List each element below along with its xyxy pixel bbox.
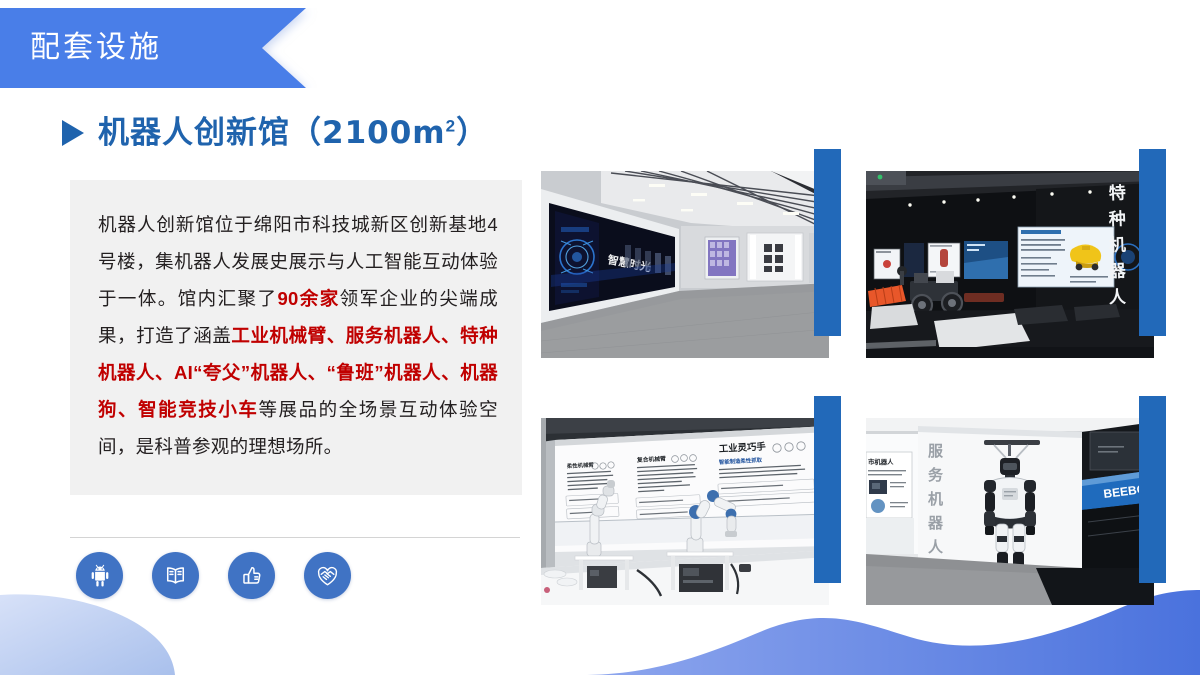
android-robot-glyph [87,563,113,589]
section-title-area-exponent: 2 [446,117,456,136]
svg-text:器: 器 [927,515,944,532]
svg-text:特: 特 [1108,182,1126,203]
desc-highlight-company-count: 90余家 [277,288,339,309]
photo-humanoid-robot-image: 市机器人 服 务 机 器 人 [866,418,1154,605]
open-book-glyph [162,562,189,589]
section-title-name: 机器人创新馆 [98,115,290,150]
svg-text:器: 器 [1107,261,1127,281]
photo-frame: 柔性机械臂 [541,418,829,605]
svg-text:务: 务 [928,466,944,484]
feature-icon-row [76,552,351,599]
handshake-heart-glyph [314,562,341,589]
android-robot-icon[interactable] [76,552,123,599]
triangle-right-icon [62,120,84,146]
section-title-paren-close: ） [456,115,488,150]
section-title-paren-open: （ [290,115,322,150]
description-paragraph: 机器人创新馆位于绵阳市科技城新区创新基地4号楼，集机器人发展史展示与人工智能互动… [98,206,498,465]
section-divider [70,537,520,538]
photo-special-robots-image: 特 种 机 器 人 [866,171,1154,358]
photo-accent-bar [814,396,841,583]
banner-title: 配套设施 [30,8,162,88]
section-heading: 机器人创新馆（2100m2） [62,117,488,149]
svg-text:服: 服 [928,443,944,460]
photo-humanoid-robot[interactable]: 市机器人 服 务 机 器 人 [866,418,1154,605]
slide-root: 配套设施 机器人创新馆（2100m2） 机器人创新馆位于绵阳市科技城新区创新基地… [0,0,1200,675]
header-banner: 配套设施 [0,8,340,88]
photo-accent-bar [1139,149,1166,336]
photo-industrial-arms-image: 柔性机械臂 [541,418,829,605]
description-panel: 机器人创新馆位于绵阳市科技城新区创新基地4号楼，集机器人发展史展示与人工智能互动… [70,180,522,495]
photo-special-robots[interactable]: 特 种 机 器 人 [866,171,1154,358]
open-book-icon[interactable] [152,552,199,599]
thumbs-up-glyph [239,563,265,589]
section-title-area-value: 2100 [322,115,412,151]
photo-accent-bar [814,149,841,336]
photo-frame: 市机器人 服 务 机 器 人 [866,418,1154,605]
svg-text:机: 机 [928,490,943,508]
svg-text:机: 机 [1108,234,1126,255]
photo-exhibition-hall-image: 智慧时光 [541,171,829,358]
page-title: 机器人创新馆（2100m2） [98,117,488,149]
thumbs-up-icon[interactable] [228,552,275,599]
svg-text:人: 人 [1108,287,1127,307]
handshake-heart-icon[interactable] [304,552,351,599]
photo-frame: 特 种 机 器 人 [866,171,1154,358]
photo-industrial-arms[interactable]: 柔性机械臂 [541,418,829,605]
svg-text:人: 人 [928,539,944,556]
photo-exhibition-hall[interactable]: 智慧时光 [541,171,829,358]
photo-frame: 智慧时光 [541,171,829,358]
svg-text:市机器人: 市机器人 [868,457,894,466]
photo-accent-bar [1139,396,1166,583]
svg-text:种: 种 [1107,208,1126,229]
section-title-area-unit: m [412,115,445,151]
